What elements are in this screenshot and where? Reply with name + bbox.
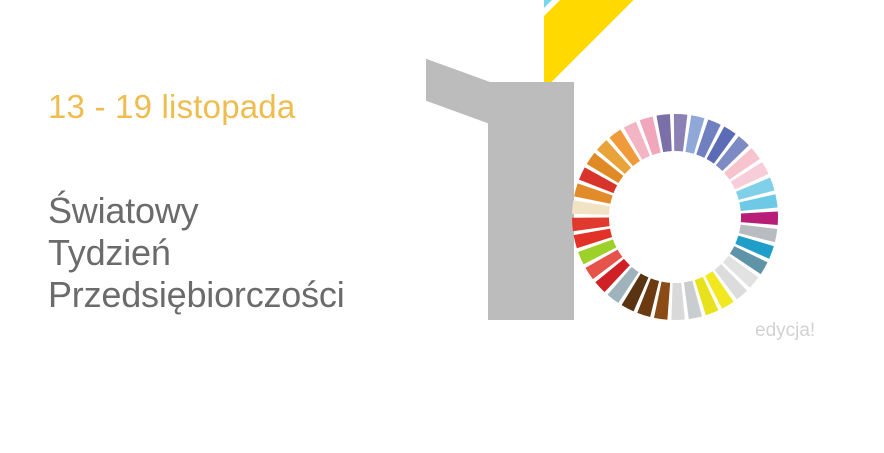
headline-line-1: Światowy	[48, 190, 345, 232]
page-title: Światowy Tydzień Przedsiębiorczości	[48, 190, 345, 316]
edition-label: edycja!	[755, 320, 815, 342]
headline-line-3: Przedsiębiorczości	[48, 274, 345, 316]
event-date: 13 - 19 listopada	[48, 88, 295, 126]
poster-banner: 13 - 19 listopada Światowy Tydzień Przed…	[0, 0, 884, 453]
footer-logos: GLOBAL ENTREPRENEURSHIP WEEK Koordynator…	[0, 358, 884, 453]
colored-donut-ring-icon	[570, 112, 780, 322]
numeral-one-shape	[488, 82, 574, 320]
headline-line-2: Tydzień	[48, 232, 345, 274]
edition-numeral-graphic: edycja!	[470, 60, 810, 360]
